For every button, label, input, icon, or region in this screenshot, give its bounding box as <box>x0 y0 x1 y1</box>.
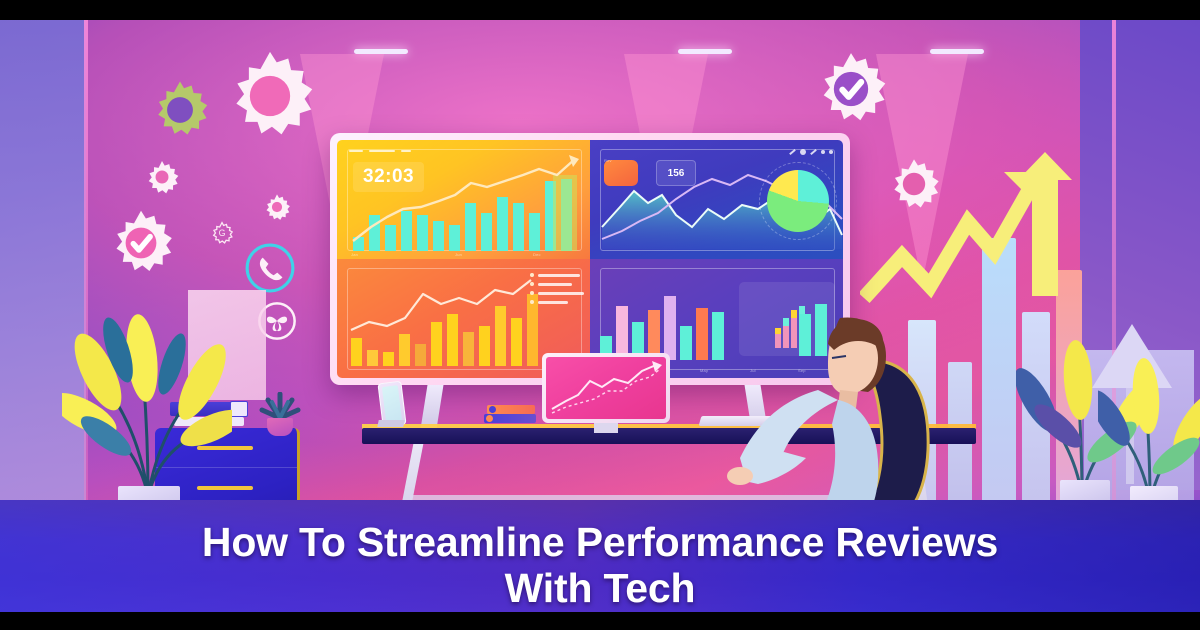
axis-label: Jan <box>351 252 358 257</box>
legend-item <box>530 291 584 295</box>
revenue-bar-chart <box>347 272 543 366</box>
desk-monitor-screen <box>546 357 666 419</box>
page-title: How To Streamline Performance Reviews Wi… <box>120 520 1080 612</box>
page-title-line-1: How To Streamline Performance Reviews <box>202 519 998 565</box>
dashboard-panel-timer[interactable]: 32:03 <box>337 140 590 259</box>
smartphone-screen <box>382 385 402 423</box>
timer-bar-chart <box>347 153 587 251</box>
page-title-line-2: With Tech <box>505 565 696 611</box>
poster-canvas: G <box>0 0 1200 630</box>
svg-text:G: G <box>219 228 226 238</box>
axis-label: Rev <box>604 158 612 163</box>
desk-monitor[interactable] <box>542 353 670 423</box>
gear-outline-icon: G <box>209 220 235 246</box>
plant-right-2 <box>1098 338 1200 503</box>
book-dot <box>489 406 496 413</box>
gear-icon <box>146 76 214 144</box>
book-dot <box>486 415 493 422</box>
succulent-plant <box>258 392 298 432</box>
plant-left <box>62 298 232 498</box>
pie-chart-ring <box>759 162 837 240</box>
gear-check-icon <box>106 208 176 278</box>
dashboard-panel-analytics[interactable]: 156 Rev <box>590 140 843 259</box>
desk-monitor-line-chart <box>546 357 666 419</box>
gear-icon <box>143 158 181 196</box>
gear-icon <box>262 192 292 222</box>
plant-pot <box>267 418 293 436</box>
axis-label: Dec <box>533 252 541 257</box>
letterbox-top <box>0 0 1200 20</box>
axis-label: Jun <box>455 252 462 257</box>
legend-item <box>530 300 584 304</box>
desk-monitor-stand <box>594 423 618 433</box>
gear-icon <box>222 48 318 144</box>
gear-icon <box>886 156 942 212</box>
legend-item <box>530 282 584 286</box>
gear-check-icon <box>812 50 890 128</box>
phone-stand <box>377 420 404 427</box>
phone-circle-icon <box>244 242 296 294</box>
title-overlay: How To Streamline Performance Reviews Wi… <box>0 520 1200 612</box>
legend-item <box>530 273 584 277</box>
letterbox-bottom <box>0 612 1200 630</box>
panel-legend <box>530 273 584 304</box>
